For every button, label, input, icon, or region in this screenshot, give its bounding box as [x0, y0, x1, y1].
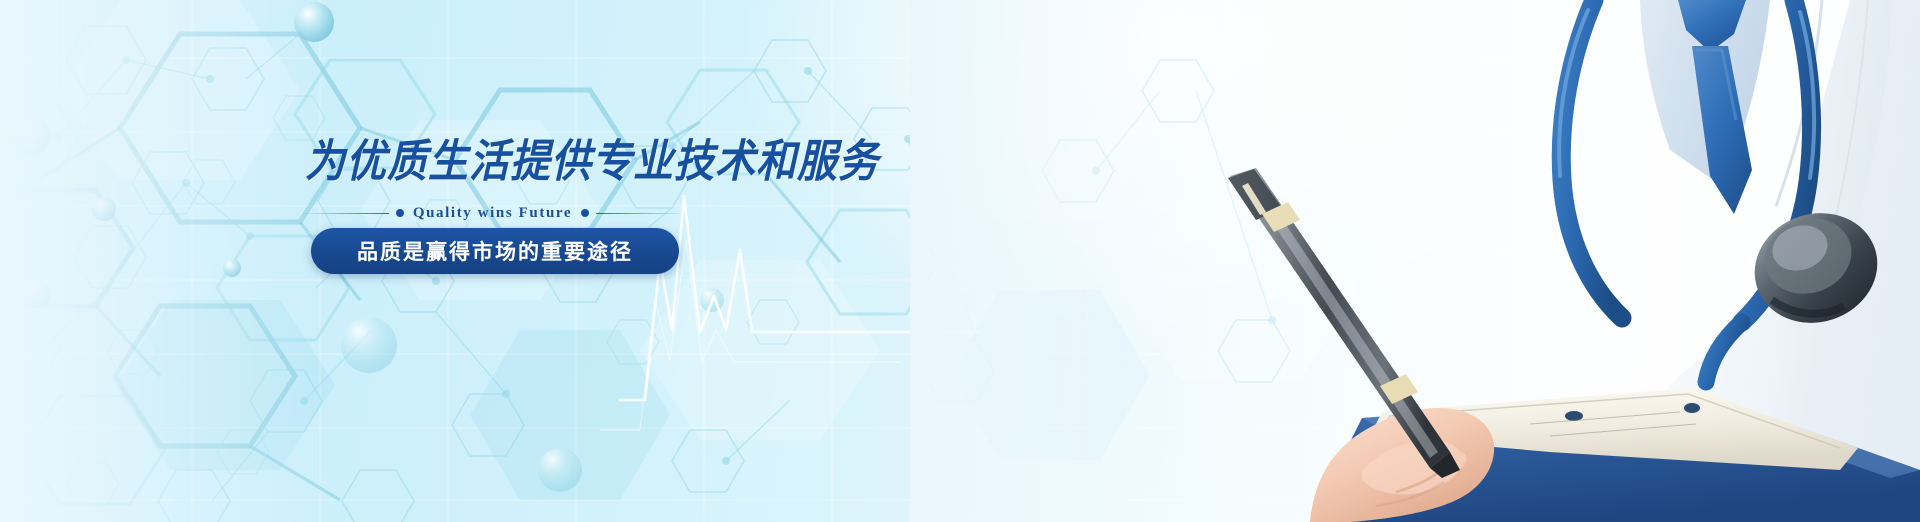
tagline-dot-right	[581, 209, 589, 217]
tagline-dot-left	[396, 209, 404, 217]
banner-headline: 为优质生活提供专业技术和服务	[305, 125, 879, 190]
tagline-rule-right	[596, 213, 680, 214]
tagline-label: Quality wins Future	[411, 205, 574, 222]
slogan-pill-label: 品质是赢得市场的重要途径	[357, 236, 633, 266]
doctor-photo	[910, 0, 1920, 522]
banner-tagline: Quality wins Future	[305, 203, 680, 223]
slogan-pill-button[interactable]: 品质是赢得市场的重要途径	[311, 228, 679, 274]
banner-content: 为优质生活提供专业技术和服务 Quality wins Future 品质是赢得…	[0, 0, 920, 522]
tagline-rule-left	[305, 213, 389, 214]
hero-banner: 为优质生活提供专业技术和服务 Quality wins Future 品质是赢得…	[0, 0, 1920, 522]
